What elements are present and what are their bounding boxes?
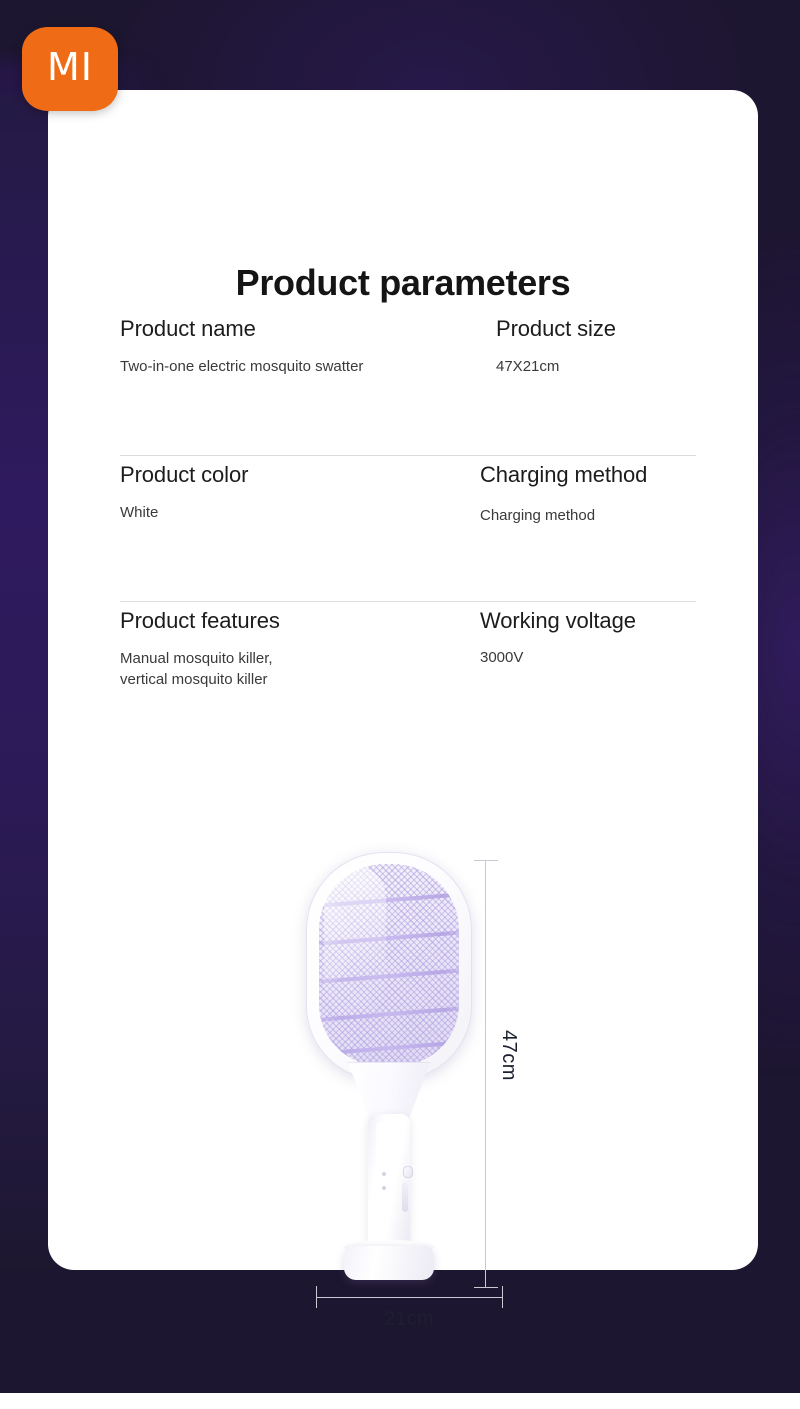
spec-label: Working voltage: [480, 602, 696, 634]
spec-value: Manual mosquito killer, vertical mosquit…: [120, 648, 480, 691]
spec-value: Charging method: [480, 505, 696, 526]
mesh-bar: [319, 930, 459, 946]
indicator-led-icon: [382, 1172, 386, 1176]
switch-track: [402, 1182, 408, 1212]
product-illustration: 47cm 21cm: [48, 762, 758, 1262]
racket-neck: [348, 1062, 430, 1120]
mesh-bar: [319, 968, 459, 984]
dimension-line-vertical: [485, 860, 486, 1287]
spec-cell-product-name: Product name Two-in-one electric mosquit…: [120, 310, 480, 456]
logo-text: MI: [47, 48, 93, 90]
racket-mesh-grid: [319, 864, 459, 1066]
dimension-label-height: 47cm: [497, 1030, 520, 1081]
xiaomi-logo: MI: [22, 27, 118, 111]
spec-cell-charging-method: Charging method Charging method: [480, 456, 696, 602]
power-switch-icon: [403, 1166, 413, 1178]
dimension-line-horizontal: [316, 1297, 502, 1298]
spec-value: 3000V: [480, 647, 696, 668]
spec-cell-working-voltage: Working voltage 3000V: [480, 602, 696, 748]
spec-value: Two-in-one electric mosquito swatter: [120, 356, 480, 377]
racket-head-frame: [306, 852, 472, 1080]
dimension-cap-right: [502, 1286, 503, 1308]
indicator-led-icon: [382, 1186, 386, 1190]
racket-base-stand: [344, 1246, 434, 1280]
dimension-cap-bottom: [474, 1287, 498, 1288]
spec-cell-product-features: Product features Manual mosquito killer,…: [120, 602, 480, 748]
spec-label: Product name: [120, 310, 480, 342]
racket-handle: [368, 1114, 410, 1260]
table-row: Product color White Charging method Char…: [120, 456, 696, 602]
spec-value: 47X21cm: [496, 356, 696, 377]
spec-cell-product-size: Product size 47X21cm: [480, 310, 696, 456]
background-bottom-strip: [0, 1393, 800, 1409]
table-row: Product name Two-in-one electric mosquit…: [120, 310, 696, 456]
mesh-bar: [319, 1040, 459, 1056]
mesh-bar: [319, 1006, 459, 1022]
dimension-label-width: 21cm: [316, 1308, 502, 1331]
spec-label: Product size: [496, 310, 696, 342]
table-row: Product features Manual mosquito killer,…: [120, 602, 696, 748]
content-card: Product parameters Product name Two-in-o…: [48, 90, 758, 1270]
mesh-bar: [319, 892, 459, 908]
spec-cell-product-color: Product color White: [120, 456, 480, 602]
page-title: Product parameters: [48, 262, 758, 304]
handle-highlight: [376, 1122, 385, 1240]
dimension-cap-top: [474, 860, 498, 861]
spec-label: Product features: [120, 602, 480, 634]
product-spec-page: Product parameters Product name Two-in-o…: [0, 0, 800, 1409]
spec-label: Product color: [120, 456, 480, 488]
spec-label: Charging method: [480, 456, 696, 488]
spec-value: White: [120, 502, 480, 523]
spec-table: Product name Two-in-one electric mosquit…: [120, 310, 696, 748]
